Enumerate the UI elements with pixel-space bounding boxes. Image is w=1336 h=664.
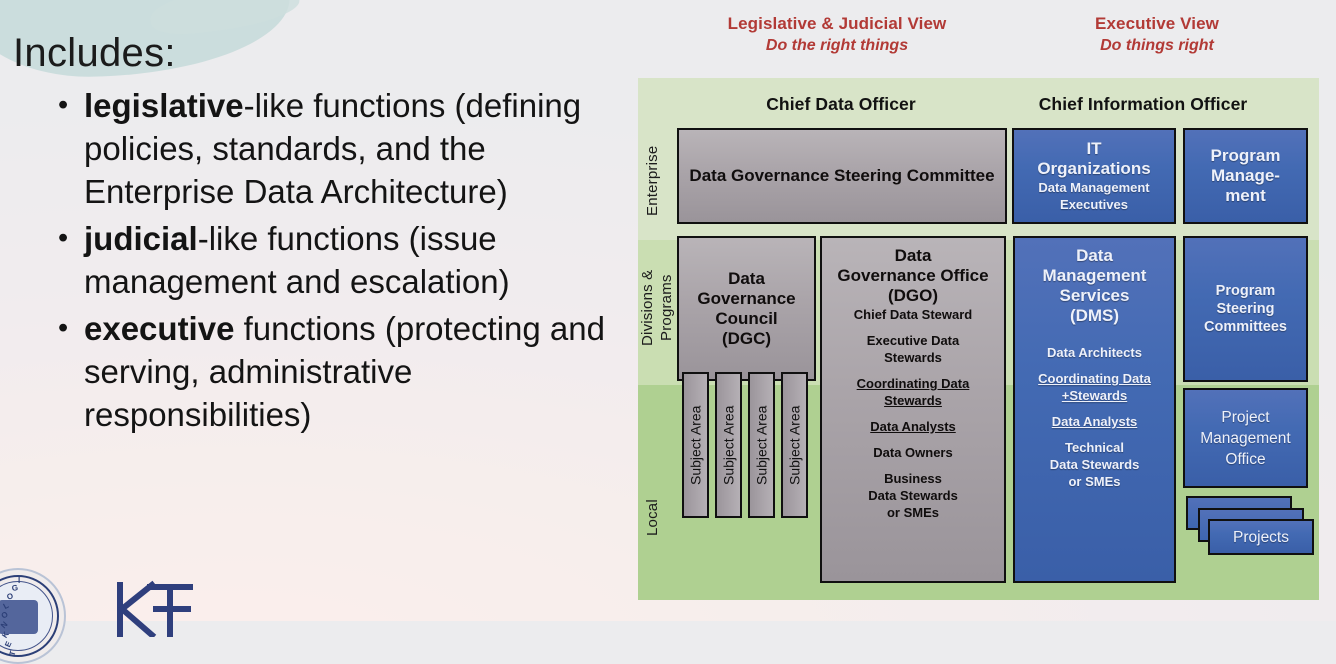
node-label-line: Organizations [1037, 159, 1150, 179]
node-sub-item: Coordinating Data [1038, 370, 1151, 387]
list-item-text: legislative-like functions (defining pol… [84, 84, 628, 213]
node-label-line: (DMS) [1070, 306, 1119, 326]
column-header-cio: Chief Information Officer [993, 94, 1293, 115]
list-item-text: executive functions (protecting and serv… [84, 307, 628, 436]
node-program-steering-committees[interactable]: Program Steering Committees [1183, 236, 1308, 382]
node-sub-item: Chief Data Steward [854, 306, 972, 323]
node-subject-area-4[interactable]: Subject Area [781, 372, 808, 518]
node-sub-item: Stewards [884, 392, 942, 409]
view-header-subtitle: Do the right things [677, 35, 997, 57]
node-label-line: Manage- [1211, 166, 1280, 186]
node-program-management[interactable]: Program Manage- ment [1183, 128, 1308, 224]
node-label-line: Program [1216, 282, 1276, 300]
node-sub-item: Data Analysts [1052, 413, 1138, 430]
node-label-line: Management [1200, 428, 1290, 449]
list-item-emphasis: executive [84, 310, 234, 347]
node-subject-area-3[interactable]: Subject Area [748, 372, 775, 518]
node-sub-item: Data Owners [873, 444, 952, 461]
node-sub-item: Data Stewards [868, 487, 958, 504]
node-label-line: Data [1076, 246, 1113, 266]
row-label-local: Local [644, 478, 666, 558]
node-data-governance-council[interactable]: Data Governance Council (DGC) [677, 236, 816, 381]
node-label-line: IT [1086, 139, 1101, 159]
node-project-management-office[interactable]: Project Management Office [1183, 388, 1308, 488]
node-sub-item: Data Architects [1047, 344, 1142, 361]
list-item-emphasis: legislative [84, 87, 244, 124]
list-item-emphasis: judicial [84, 220, 198, 257]
node-sub-item: Business [884, 470, 942, 487]
diagram-canvas: Chief Data Officer Chief Information Off… [638, 78, 1319, 600]
node-sub-item: Stewards [884, 349, 942, 366]
view-header-title: Executive View [1032, 13, 1282, 35]
node-sub-item: Coordinating Data [857, 375, 970, 392]
node-data-governance-steering-committee[interactable]: Data Governance Steering Committee [677, 128, 1007, 224]
node-label-line: Steering [1216, 300, 1274, 318]
page-title: Includes: [13, 31, 176, 76]
bullet-dot: • [58, 217, 84, 303]
view-header-executive: Executive View Do things right [1032, 13, 1282, 57]
list-item: • judicial-like functions (issue managem… [58, 217, 628, 303]
node-label-line: Services [1060, 286, 1130, 306]
governance-diagram: Legislative & Judicial View Do the right… [637, 0, 1336, 621]
node-projects[interactable]: Projects [1208, 519, 1314, 555]
node-label-line: Office [1225, 449, 1265, 470]
node-label-line: Council [715, 309, 777, 329]
bullet-dot: • [58, 307, 84, 436]
node-label-line: Executives [1060, 196, 1128, 213]
node-sub-item: or SMEs [1068, 473, 1120, 490]
column-header-cdo: Chief Data Officer [676, 94, 1006, 115]
node-data-management-services[interactable]: Data Management Services (DMS) Data Arch… [1013, 236, 1176, 583]
node-sub-item: or SMEs [887, 504, 939, 521]
kt-wordmark-logo [112, 577, 222, 637]
node-sub-item: Data Stewards [1050, 456, 1140, 473]
row-label-divisions-programs: Divisions & Programs [638, 238, 678, 378]
node-subject-area-1[interactable]: Subject Area [682, 372, 709, 518]
node-label-line: Governance Office [837, 266, 988, 286]
node-data-governance-office[interactable]: Data Governance Office (DGO) Chief Data … [820, 236, 1006, 583]
node-sub-item: +Stewards [1062, 387, 1127, 404]
list-item: • executive functions (protecting and se… [58, 307, 628, 436]
row-label-enterprise: Enterprise [644, 126, 666, 236]
node-label: Data Governance Steering Committee [689, 166, 994, 186]
node-label-line: Committees [1204, 318, 1287, 336]
node-label-line: Project [1221, 407, 1269, 428]
slide-text-column: Includes: • legislative-like functions (… [0, 0, 636, 621]
node-sub-item: Executive Data [867, 332, 960, 349]
view-header-subtitle: Do things right [1032, 35, 1282, 57]
view-header-legislative: Legislative & Judicial View Do the right… [677, 13, 997, 57]
view-header-title: Legislative & Judicial View [677, 13, 997, 35]
node-label-line: (DGO) [888, 286, 938, 306]
node-it-organizations[interactable]: IT Organizations Data Management Executi… [1012, 128, 1176, 224]
list-item-text: judicial-like functions (issue managemen… [84, 217, 628, 303]
node-label-line: Data [895, 246, 932, 266]
node-label-line: Management [1043, 266, 1147, 286]
seal-text: TEKNOLOGI BANDUNG [0, 570, 64, 662]
node-label-line: Governance [697, 289, 795, 309]
node-label-line: Data Management [1038, 179, 1149, 196]
node-sub-item: Data Analysts [870, 418, 956, 435]
bullet-dot: • [58, 84, 84, 213]
node-sub-item: Technical [1065, 439, 1124, 456]
bullet-list: • legislative-like functions (defining p… [58, 84, 628, 440]
node-label-line: Program [1211, 146, 1281, 166]
list-item: • legislative-like functions (defining p… [58, 84, 628, 213]
university-seal-logo: TEKNOLOGI BANDUNG [0, 568, 66, 664]
node-label-line: (DGC) [722, 329, 771, 349]
node-label-line: Data [728, 269, 765, 289]
node-label-line: ment [1225, 186, 1266, 206]
node-label: Projects [1233, 527, 1289, 548]
node-subject-area-2[interactable]: Subject Area [715, 372, 742, 518]
